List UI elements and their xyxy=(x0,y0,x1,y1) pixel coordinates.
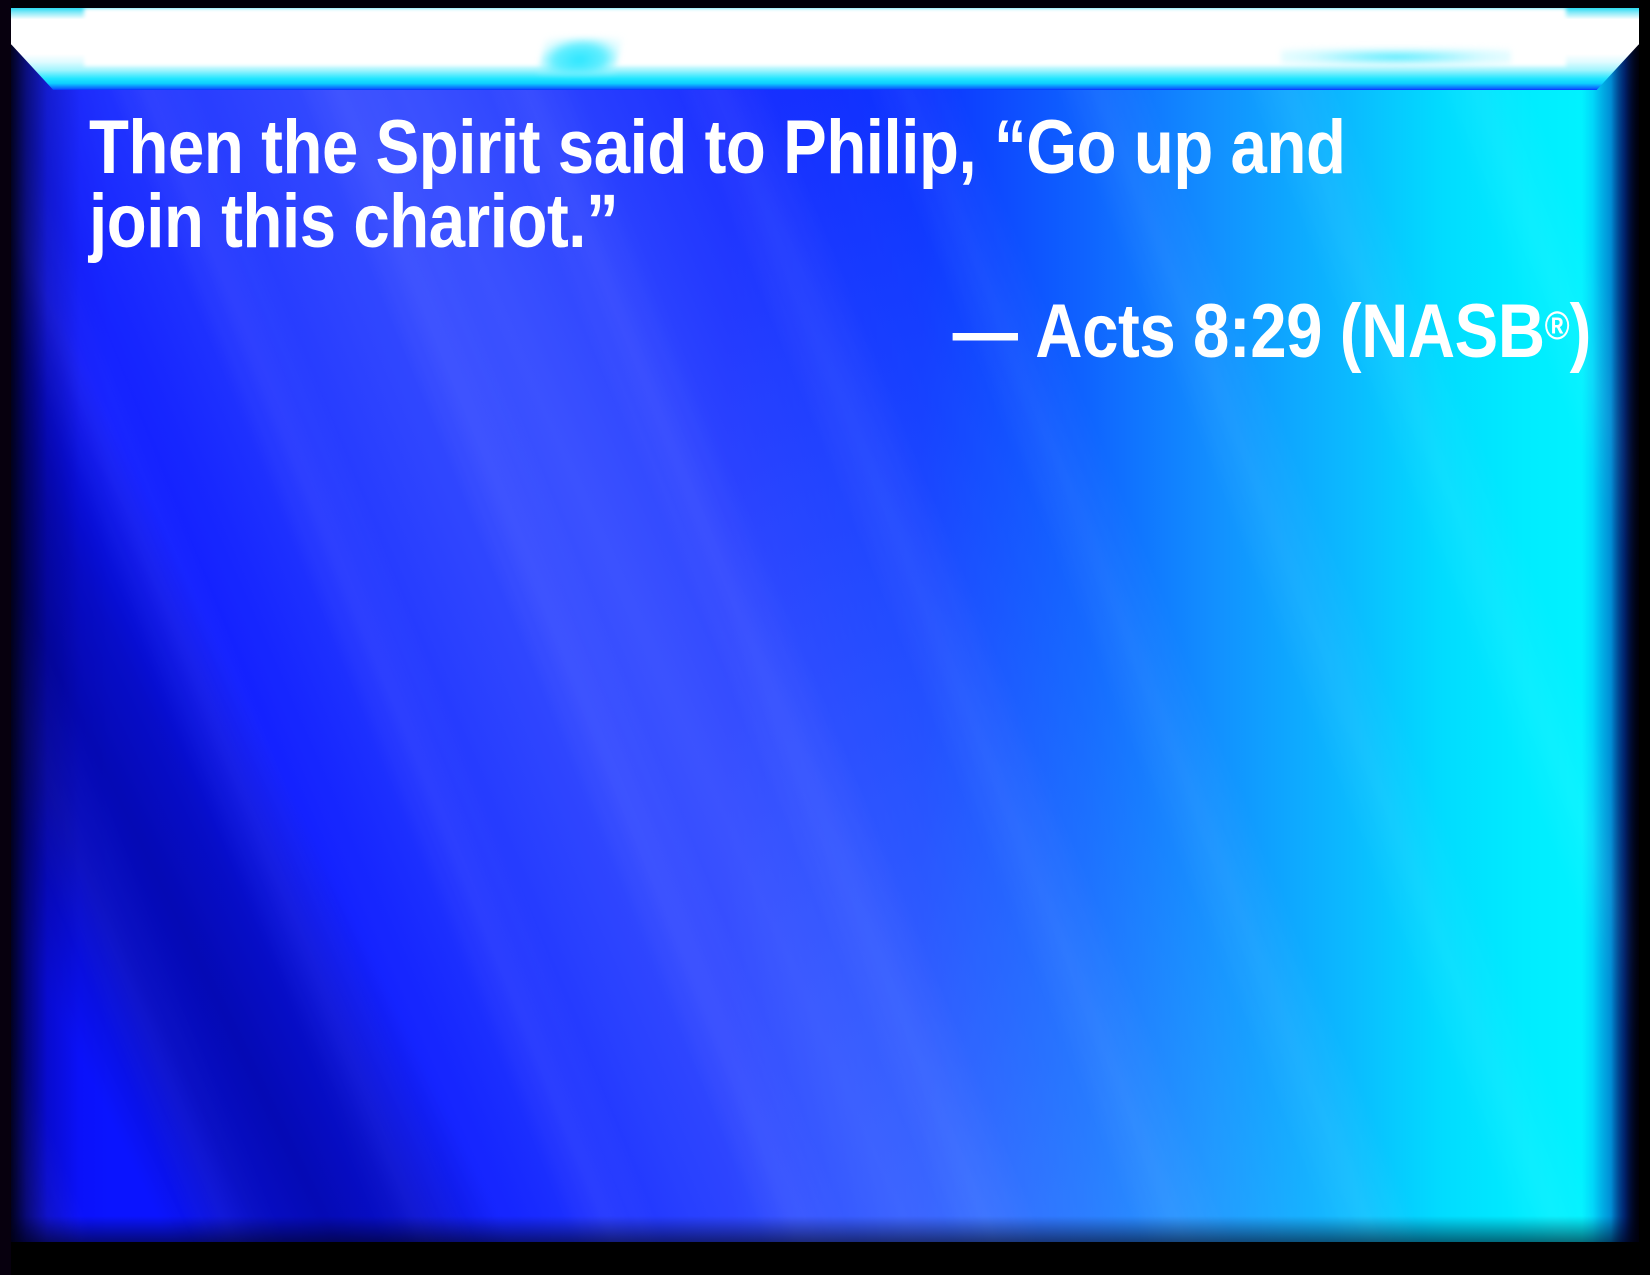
verse-text: Then the Spirit said to Philip, “Go up a… xyxy=(89,111,1381,258)
border-bottom xyxy=(0,1242,1650,1275)
border-left xyxy=(0,0,11,1275)
slide-background: Then the Spirit said to Philip, “Go up a… xyxy=(11,8,1639,1242)
registered-trademark-icon: ® xyxy=(1545,305,1570,349)
verse-reference-book: Acts 8:29 (NASB xyxy=(1035,289,1544,374)
border-right xyxy=(1639,0,1650,1275)
verse-reference-close-paren: ) xyxy=(1570,289,1591,374)
verse-block: Then the Spirit said to Philip, “Go up a… xyxy=(89,111,1591,370)
scripture-slide: Then the Spirit said to Philip, “Go up a… xyxy=(0,0,1650,1275)
verse-reference: — Acts 8:29 (NASB®) xyxy=(299,294,1591,370)
verse-reference-dash: — xyxy=(953,289,1018,374)
border-top xyxy=(0,0,1650,8)
